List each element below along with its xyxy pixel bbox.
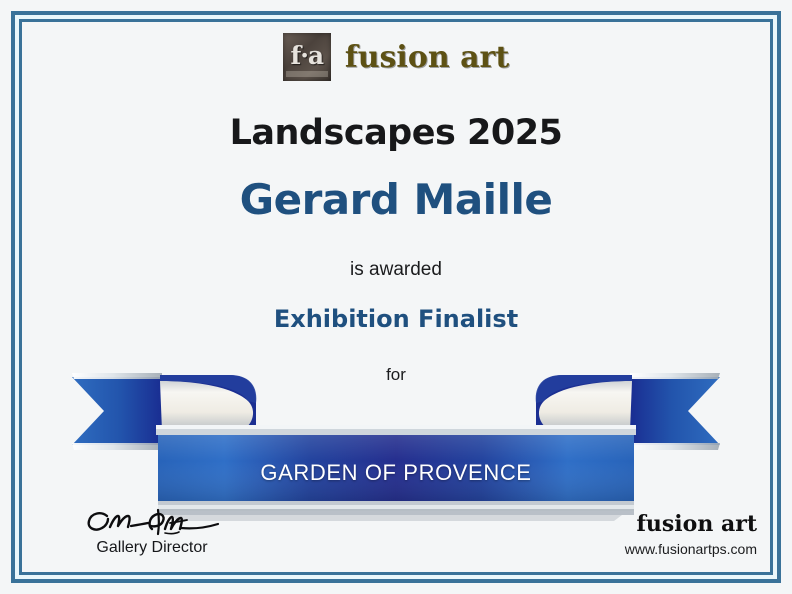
certificate-content: f·a fusion art Landscapes 2025 Gerard Ma… [25, 25, 767, 569]
footer-brand-block: fusion art www.fusionartps.com [625, 511, 757, 557]
artwork-title: GARDEN OF PROVENCE [25, 460, 767, 486]
awarded-text: is awarded [25, 259, 767, 281]
footer-website: www.fusionartps.com [625, 541, 757, 557]
ribbon-graphic [0, 345, 792, 525]
signature-role: Gallery Director [37, 539, 267, 557]
certificate: f·a fusion art Landscapes 2025 Gerard Ma… [0, 0, 792, 594]
logo-mark-text: f·a [290, 43, 323, 68]
fusion-art-logo-icon: f·a [283, 33, 331, 81]
brand-header: f·a fusion art [25, 33, 767, 81]
competition-title: Landscapes 2025 [25, 113, 767, 153]
award-level: Exhibition Finalist [25, 305, 767, 333]
signature-block: Gallery Director [37, 507, 267, 557]
footer-brand-name: fusion art [625, 511, 757, 537]
logo-mark-bar [286, 71, 328, 77]
award-ribbon [0, 345, 792, 525]
recipient-name: Gerard Maille [25, 175, 767, 224]
brand-name: fusion art [345, 40, 509, 75]
handwritten-signature-icon [77, 507, 227, 541]
